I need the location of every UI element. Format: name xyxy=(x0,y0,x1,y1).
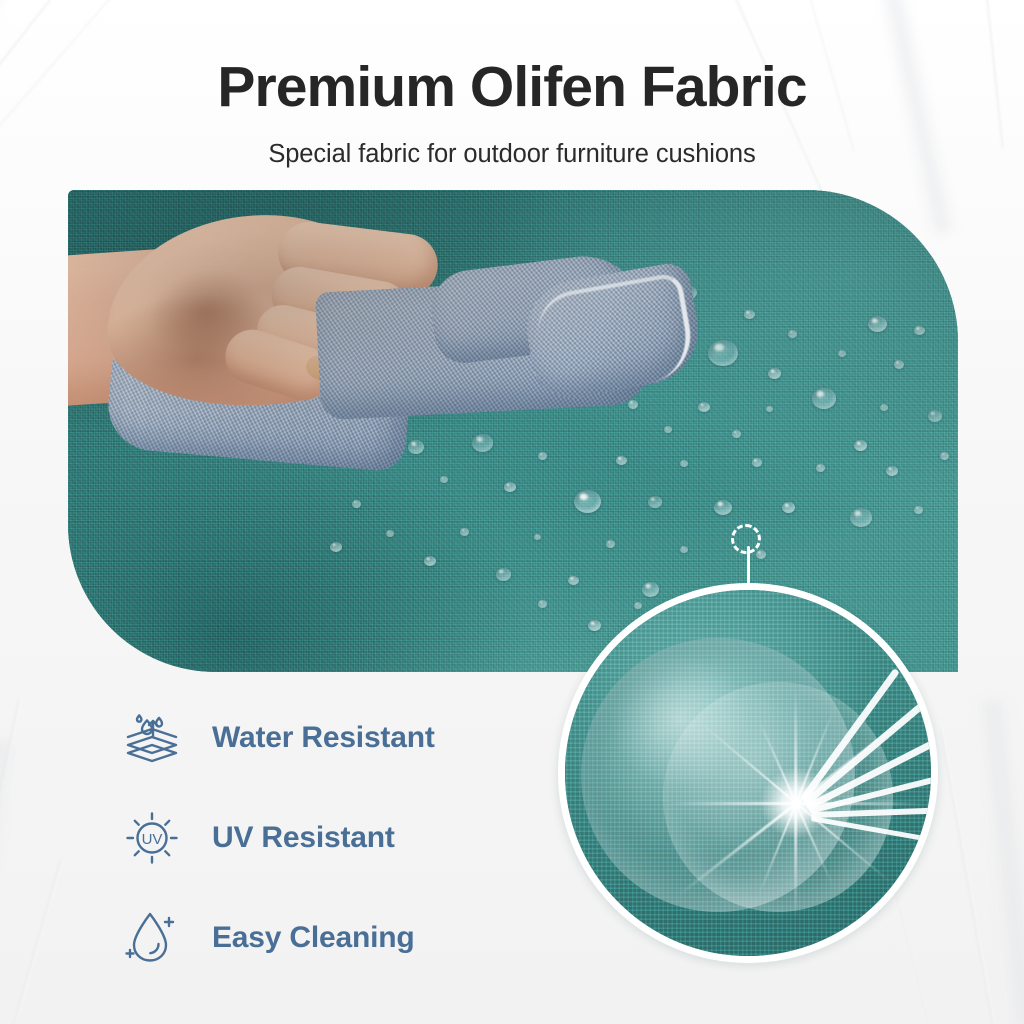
droplet-sparkle-icon xyxy=(118,904,186,972)
feature-item-easy-cleaning: Easy Cleaning xyxy=(118,888,538,988)
feature-list: Water Resistant UV UV Resistant xyxy=(118,688,538,988)
svg-text:UV: UV xyxy=(142,831,163,848)
page-title: Premium Olifen Fabric xyxy=(0,58,1024,118)
lens-flare-core xyxy=(761,768,831,838)
product-feature-graphic: Premium Olifen Fabric Special fabric for… xyxy=(0,0,1024,1024)
feature-label: Easy Cleaning xyxy=(212,921,414,955)
feature-label: UV Resistant xyxy=(212,821,395,855)
zoom-target-callout-icon xyxy=(731,524,761,554)
feature-item-water-resistant: Water Resistant xyxy=(118,688,538,788)
uv-sun-icon: UV xyxy=(118,804,186,872)
water-drop-layers-icon xyxy=(118,704,186,772)
water-bead-magnifier xyxy=(558,583,938,963)
feature-label: Water Resistant xyxy=(212,721,435,755)
page-subtitle: Special fabric for outdoor furniture cus… xyxy=(0,140,1024,169)
heading-block: Premium Olifen Fabric Special fabric for… xyxy=(0,58,1024,169)
feature-item-uv-resistant: UV UV Resistant xyxy=(118,788,538,888)
